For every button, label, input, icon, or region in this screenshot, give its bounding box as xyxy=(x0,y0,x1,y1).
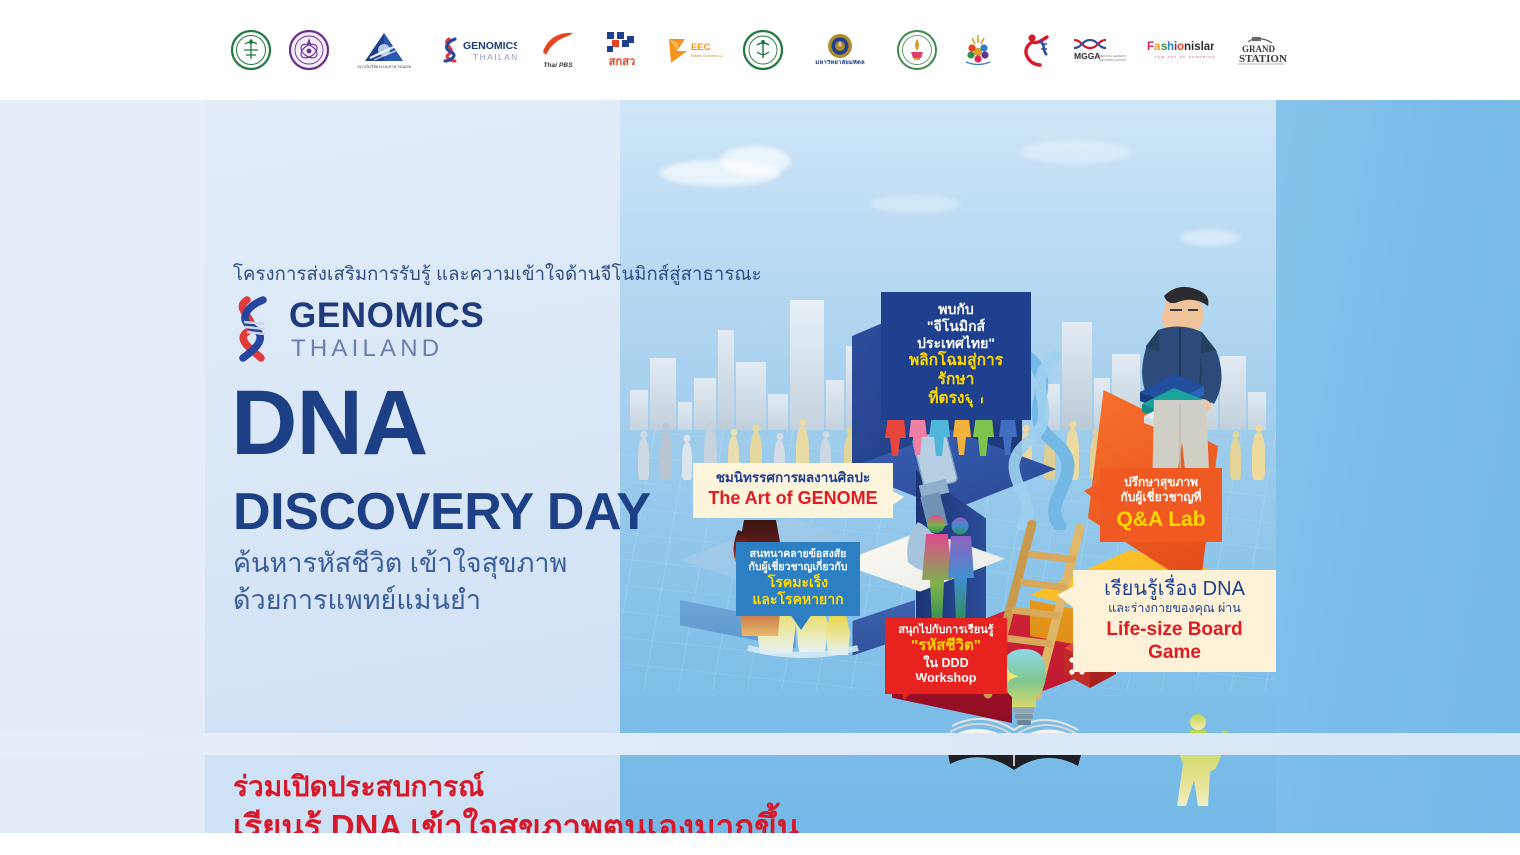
seal-icon xyxy=(897,30,937,70)
callout-line-2: กับผู้เชี่ยวชาญที่ xyxy=(1112,490,1210,505)
logo-thai-pbs: Thai PBS xyxy=(535,27,581,73)
logo-mgga: MGGA MEDICAL GENETICS AND GENOMICS ASSOC… xyxy=(1071,27,1127,73)
svg-text:MGGA: MGGA xyxy=(1074,51,1100,61)
svg-text:GENOMICS: GENOMICS xyxy=(463,40,517,52)
logo-dept-medical-sciences xyxy=(289,27,329,73)
flower-icon xyxy=(958,32,998,68)
sponsor-logo-bar: สภาบันวิจัยระบบสาธารณสุข GENOMICS THAILA… xyxy=(0,0,1520,100)
callout-highlight-2: ที่ตรงจุด xyxy=(895,390,1017,409)
svg-text:EEC: EEC xyxy=(691,42,711,53)
seal-icon xyxy=(289,30,329,70)
svg-text:Eastern Economic Corridor: Eastern Economic Corridor xyxy=(691,54,723,58)
logo-dept-medical-services xyxy=(743,27,783,73)
logo-royal-college xyxy=(897,27,937,73)
logo-genomics-thailand: GENOMICS THAILAND xyxy=(439,27,517,73)
page-title-discovery-day: DISCOVERY DAY xyxy=(233,482,651,542)
seal-icon xyxy=(743,30,783,70)
logo-thai-medical-council xyxy=(955,27,1001,73)
callout-cancer-rare-disease: สนทนาคลายข้อสงสัย กับผู้เชี่ยวชาญเกี่ยวก… xyxy=(736,542,860,616)
logo-tsri: สกสว xyxy=(599,27,645,73)
callout-line-2: กับผู้เชี่ยวชาญเกี่ยวกับ xyxy=(746,561,850,574)
logo-caption: มหาวิทยาลัยมหิดล xyxy=(815,60,864,68)
svg-text:a: a xyxy=(1154,41,1161,53)
logo-ministry-public-health xyxy=(231,27,271,73)
callout-highlight: "รหัสชีวิต" xyxy=(895,637,997,655)
cloud-shape xyxy=(720,146,790,176)
svg-text:n: n xyxy=(1184,41,1191,53)
tsri-icon xyxy=(603,30,641,56)
logo-mgga-figure xyxy=(1019,27,1053,73)
banner-bottom-rule xyxy=(0,733,1520,755)
brand-sub: THAILAND xyxy=(291,337,484,361)
person-silhouette xyxy=(638,438,649,480)
callout-line-2: "จีโนมิกส์ประเทศไทย" xyxy=(895,318,1017,352)
person-silhouette xyxy=(682,442,692,480)
svg-text:STATION: STATION xyxy=(1239,53,1287,65)
callout-tail xyxy=(898,680,924,700)
banner-left-gradient xyxy=(0,100,205,833)
dna-logo-icon xyxy=(233,296,279,362)
svg-text:GENOMICS ASSOCIATION: GENOMICS ASSOCIATION xyxy=(1099,58,1126,62)
man-with-books-illustration xyxy=(1110,278,1240,608)
svg-text:h: h xyxy=(1167,41,1174,53)
callout-line-2: และร่างกายของคุณ ผ่าน xyxy=(1087,601,1262,616)
eec-icon: EEC Eastern Economic Corridor xyxy=(665,35,723,65)
logo-fashion-island: F a s h i o n island THE JOY OF SHOPPING xyxy=(1145,27,1215,73)
banner-subtitle-line2: ด้วยการแพทย์แม่นยำ xyxy=(233,582,693,618)
banner-kicker: โครงการส่งเสริมการรับรู้ และความเข้าใจด้… xyxy=(233,260,753,289)
logo-caption: สกสว xyxy=(609,56,636,70)
mgga-icon: MGGA MEDICAL GENETICS AND GENOMICS ASSOC… xyxy=(1072,37,1126,63)
grand-station-icon: GRAND STATION xyxy=(1234,33,1288,67)
callout-genomics-thailand: พบกับ "จีโนมิกส์ประเทศไทย" พลิกโฉมสู่การ… xyxy=(881,292,1031,420)
callout-highlight: Q&A Lab xyxy=(1112,507,1210,533)
seal-icon xyxy=(827,33,853,59)
logo-grand-station: GRAND STATION xyxy=(1233,27,1289,73)
callout-art-of-genome: ชมนิทรรศการผลงานศิลปะ The Art of GENOME xyxy=(693,463,893,518)
callout-board-game: เรียนรู้เรื่อง DNA และร่างกายของคุณ ผ่าน… xyxy=(1073,570,1276,672)
callout-line-1: ปรึกษาสุขภาพ xyxy=(1112,475,1210,490)
figure-dna-icon xyxy=(1020,32,1052,68)
callout-highlight-1: พลิกโฉมสู่การรักษา xyxy=(895,352,1017,390)
brand-main: GENOMICS xyxy=(289,298,484,333)
cloud-shape xyxy=(1020,140,1130,164)
genomics-thailand-logo: GENOMICS THAILAND xyxy=(233,296,484,362)
callout-english-text: The Art of GENOME xyxy=(707,488,879,510)
cta-line2: เรียนรู้ DNA เข้าใจสุขภาพตนเองมากขึ้น xyxy=(233,800,799,833)
callout-highlight-1: โรคมะเร็ง xyxy=(746,574,850,591)
callout-line-1: เรียนรู้เรื่อง DNA xyxy=(1087,577,1262,601)
svg-text:o: o xyxy=(1177,41,1184,53)
banner-subtitle-line1: ค้นหารหัสชีวิต เข้าใจสุขภาพ xyxy=(233,545,693,581)
logo-eec: EEC Eastern Economic Corridor xyxy=(663,27,725,73)
callout-line-1: สนทนาคลายข้อสงสัย xyxy=(746,548,850,561)
callout-english-text: Life-size Board Game xyxy=(1087,618,1262,664)
callout-tail xyxy=(965,388,989,406)
callout-line-1: สนุกไปกับการเรียนรู้ xyxy=(895,624,997,637)
fashion-island-icon: F a s h i o n island THE JOY OF SHOPPING xyxy=(1146,38,1214,62)
cloud-shape xyxy=(870,195,960,213)
callout-line-1: พบกับ xyxy=(895,301,1017,318)
page-root: สภาบันวิจัยระบบสาธารณสุข GENOMICS THAILA… xyxy=(0,0,1520,855)
seal-icon xyxy=(231,30,271,70)
jumping-person-illustration xyxy=(1164,700,1234,810)
svg-text:island: island xyxy=(1191,41,1214,53)
logo-hsri: สภาบันวิจัยระบบสาธารณสุข xyxy=(347,27,421,73)
callout-tail xyxy=(790,614,812,630)
person-silhouette xyxy=(660,430,672,480)
logo-caption: สภาบันวิจัยระบบสาธารณสุข xyxy=(357,64,411,69)
svg-text:THE JOY OF SHOPPING: THE JOY OF SHOPPING xyxy=(1155,55,1214,59)
page-bottom-strip xyxy=(0,833,1520,855)
callout-highlight-2: และโรคหายาก xyxy=(746,591,850,608)
thaipbs-icon xyxy=(538,30,578,60)
logo-mahidol-ramathibodi: มหาวิทยาลัยมหิดล xyxy=(801,27,879,73)
callout-tail xyxy=(1057,586,1074,608)
svg-text:F: F xyxy=(1147,41,1154,53)
genomics-logo-icon: GENOMICS THAILAND xyxy=(439,36,517,64)
hero-banner: โครงการส่งเสริมการรับรู้ และความเข้าใจด้… xyxy=(0,100,1520,833)
callout-qa-lab: ปรึกษาสุขภาพ กับผู้เชี่ยวชาญที่ Q&A Lab xyxy=(1100,468,1222,542)
triangle-icon xyxy=(362,31,406,63)
person-silhouette xyxy=(1252,432,1265,480)
logo-caption: Thai PBS xyxy=(543,62,572,70)
callout-thai-text: ชมนิทรรศการผลงานศิลปะ xyxy=(707,470,879,486)
svg-text:THAILAND: THAILAND xyxy=(473,52,517,62)
callout-tail xyxy=(886,488,904,510)
genomics-thailand-wordmark: GENOMICS THAILAND xyxy=(289,298,484,361)
callout-tail xyxy=(1084,482,1101,504)
page-title-dna: DNA xyxy=(231,381,427,466)
